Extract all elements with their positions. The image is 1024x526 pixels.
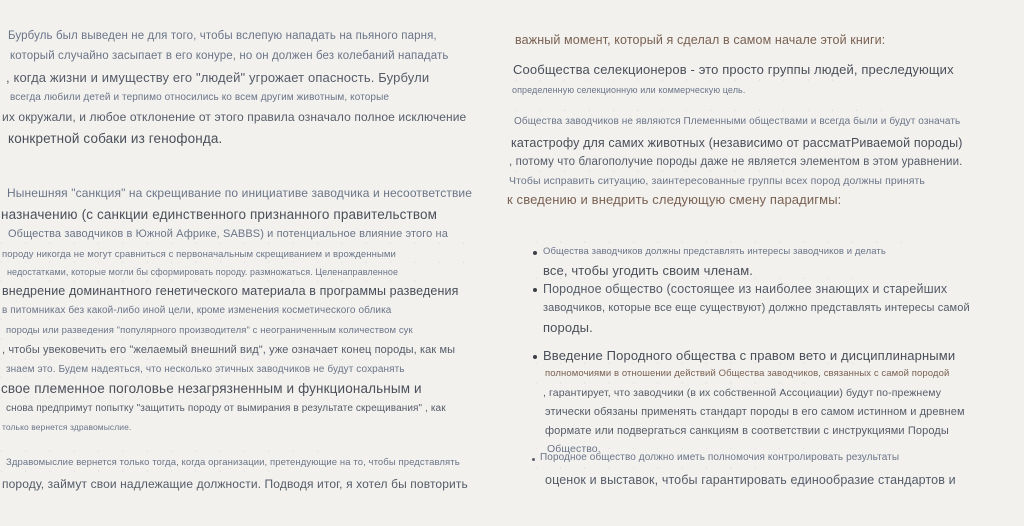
text-line: который случайно засыпает в его конуре, … xyxy=(10,50,448,62)
text-line: катастрофу для самих животных (независим… xyxy=(511,136,962,150)
list-item-line: Породное общество должно иметь полномочи… xyxy=(540,452,899,463)
text-line-emphasis: к сведению и внедрить следующую смену па… xyxy=(507,192,841,207)
text-line: снова предпримут попытку "защитить пород… xyxy=(6,403,446,414)
list-item-line: оценок и выставок, чтобы гарантировать е… xyxy=(545,473,956,487)
text-line: недостатками, которые могли бы сформиров… xyxy=(7,267,398,277)
list-item-line: форматe или подвергаться санкциям в соот… xyxy=(545,425,949,437)
quote-line-secondary: определенную селекционную или коммерческ… xyxy=(512,85,745,95)
text-line: важный момент, который я сделал в самом … xyxy=(515,33,885,47)
text-line: породы или разведения "популярного произ… xyxy=(6,325,413,336)
bullet-dot-icon xyxy=(533,251,537,255)
text-line: в питомниках без какой-либо иной цели, к… xyxy=(2,305,391,316)
text-line: Здравомыслие вернется только тогда, когд… xyxy=(6,457,460,468)
text-line: породу никогда не могут сравниться с пер… xyxy=(2,249,396,260)
document-page: Бурбуль был выведен не для того, чтобы в… xyxy=(0,0,1024,526)
text-line: всегда любили детей и терпимо относились… xyxy=(10,92,389,103)
text-line: внедрение доминантного генетического мат… xyxy=(2,284,458,298)
text-line: , когда жизни и имуществу его "людей" уг… xyxy=(6,70,429,85)
text-line: Общества заводчиков в Южной Африке, SABB… xyxy=(8,228,448,240)
text-line: , чтобы увековечить его "желаемый внешни… xyxy=(2,344,455,356)
text-line: Чтобы исправить ситуацию, заинтересованн… xyxy=(509,175,925,187)
text-line: Общества заводчиков не являются Племенны… xyxy=(514,116,960,127)
bullet-dot-icon xyxy=(533,288,537,292)
text-line: конкретной собаки из генофонда. xyxy=(8,131,222,146)
text-line: назначению (с санкции единственного приз… xyxy=(1,207,437,222)
text-column-left: Бурбуль был выведен не для того, чтобы в… xyxy=(0,0,505,526)
list-item-line: породы. xyxy=(543,320,593,335)
text-line: их окружали, и любое отклонение от этого… xyxy=(2,110,466,124)
text-line: только вернется здравомыслие. xyxy=(2,422,131,432)
text-line: Бурбуль был выведен не для того, чтобы в… xyxy=(8,30,437,42)
text-line: знаем это. Будем надеяться, что нескольк… xyxy=(6,364,405,375)
text-line: свое племенное поголовье незагрязненным … xyxy=(1,381,422,396)
list-item-line: Общества заводчиков должны представлять … xyxy=(543,246,886,257)
list-item-line: Введение Породного общества с правом вет… xyxy=(543,348,955,363)
list-item-line: полномочиями в отношении действий Общест… xyxy=(545,368,949,379)
list-item-line: Породное общество (состоящее из наиболее… xyxy=(543,282,947,296)
text-column-right: важный момент, который я сделал в самом … xyxy=(505,0,1024,526)
bullet-dot-icon xyxy=(533,355,537,359)
text-line: Нынешняя "санкция" на скрещивание по ини… xyxy=(7,186,472,200)
text-line: , потому что благополучие породы даже не… xyxy=(509,156,962,168)
text-line: породу, займут свои надлежащие должности… xyxy=(2,477,468,491)
list-item-line: заводчиков, которые все еще существуют) … xyxy=(543,302,970,314)
quote-line-primary: Сообщества селекционеров - это просто гр… xyxy=(513,62,954,77)
list-item-line: , гарантирует, что заводчики (в их собст… xyxy=(543,387,941,399)
list-item-line: этически обязаны применять стандарт поро… xyxy=(545,406,965,418)
list-item-line: все, чтобы угодить своим членам. xyxy=(543,263,753,278)
bullet-dot-icon xyxy=(532,458,535,461)
